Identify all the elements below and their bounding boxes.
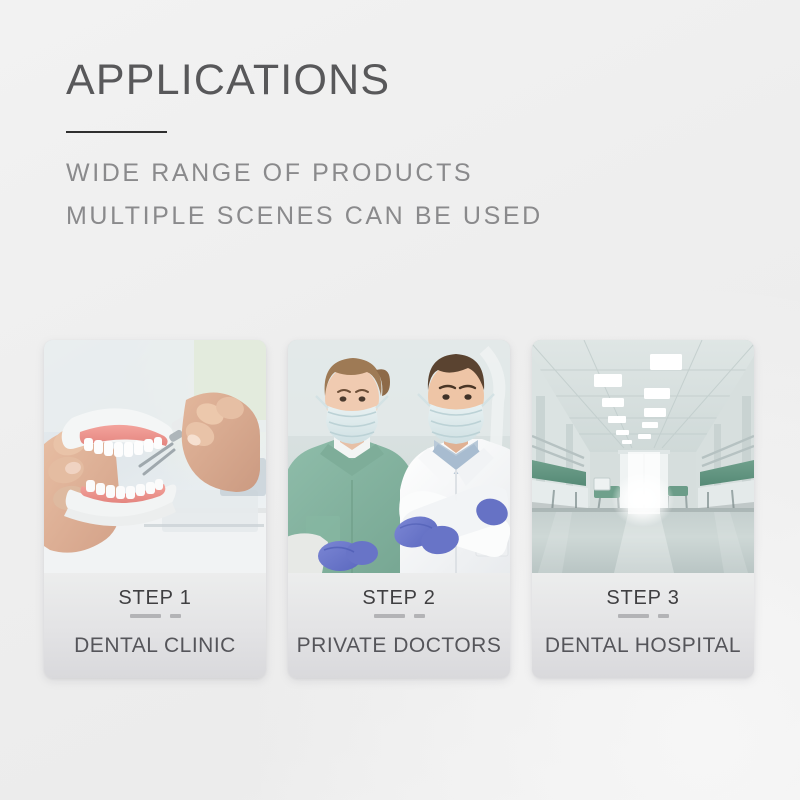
step-dash-long-icon (374, 614, 405, 618)
title-divider (66, 131, 167, 133)
card-label-1: DENTAL CLINIC (44, 634, 266, 658)
application-cards: STEP 1 DENTAL CLINIC (44, 340, 756, 678)
card-label-3: DENTAL HOSPITAL (532, 634, 754, 658)
page-subtitle: WIDE RANGE OF PRODUCTS MULTIPLE SCENES C… (66, 152, 746, 238)
application-card-step-1[interactable]: STEP 1 DENTAL CLINIC (44, 340, 266, 678)
subtitle-line-2: MULTIPLE SCENES CAN BE USED (66, 195, 746, 238)
card-caption-step-3: STEP 3 DENTAL HOSPITAL (532, 573, 754, 678)
step-number-3: STEP 3 (532, 586, 754, 610)
applications-page: APPLICATIONS WIDE RANGE OF PRODUCTS MULT… (0, 0, 800, 800)
step-dash-long-icon (130, 614, 161, 618)
page-title: APPLICATIONS (66, 58, 746, 103)
private-doctors-photo (288, 340, 510, 573)
subtitle-line-1: WIDE RANGE OF PRODUCTS (66, 152, 746, 195)
card-caption-step-2: STEP 2 PRIVATE DOCTORS (288, 573, 510, 678)
card-caption-step-1: STEP 1 DENTAL CLINIC (44, 573, 266, 678)
step-dash-long-icon (618, 614, 649, 618)
dental-hospital-photo (532, 340, 754, 573)
step-rule-1 (44, 614, 266, 618)
step-number-2: STEP 2 (288, 586, 510, 610)
step-rule-3 (532, 614, 754, 618)
dental-clinic-photo (44, 340, 266, 573)
page-header: APPLICATIONS WIDE RANGE OF PRODUCTS MULT… (66, 58, 746, 238)
step-dash-short-icon (414, 614, 425, 618)
application-card-step-2[interactable]: STEP 2 PRIVATE DOCTORS (288, 340, 510, 678)
step-number-1: STEP 1 (44, 586, 266, 610)
step-dash-short-icon (170, 614, 181, 618)
step-rule-2 (288, 614, 510, 618)
application-card-step-3[interactable]: STEP 3 DENTAL HOSPITAL (532, 340, 754, 678)
step-dash-short-icon (658, 614, 669, 618)
card-label-2: PRIVATE DOCTORS (288, 634, 510, 658)
